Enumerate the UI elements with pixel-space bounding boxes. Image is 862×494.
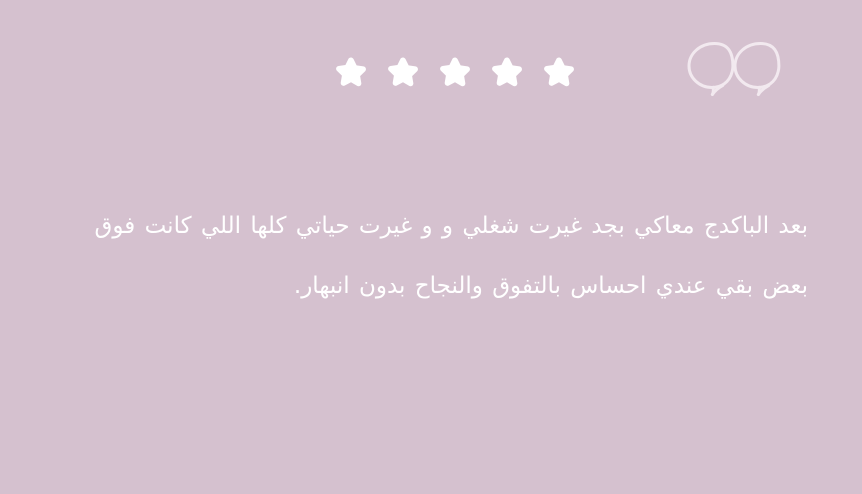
testimonial-line: بعض بقي عندي احساس بالتفوق والنجاح بدون … [54,256,808,316]
star-icon [386,55,420,89]
star-icon [542,55,576,89]
testimonial-header [0,0,862,140]
star-rating [334,55,576,89]
quote-mark-icon [684,38,784,100]
testimonial-line: بعد الباكدج معاكي بجد غيرت شغلي و و غيرت… [54,196,808,256]
star-icon [438,55,472,89]
star-icon [334,55,368,89]
testimonial-text-block: بعد الباكدج معاكي بجد غيرت شغلي و و غيرت… [54,196,808,316]
testimonial-card: بعد الباكدج معاكي بجد غيرت شغلي و و غيرت… [0,0,862,494]
star-icon [490,55,524,89]
